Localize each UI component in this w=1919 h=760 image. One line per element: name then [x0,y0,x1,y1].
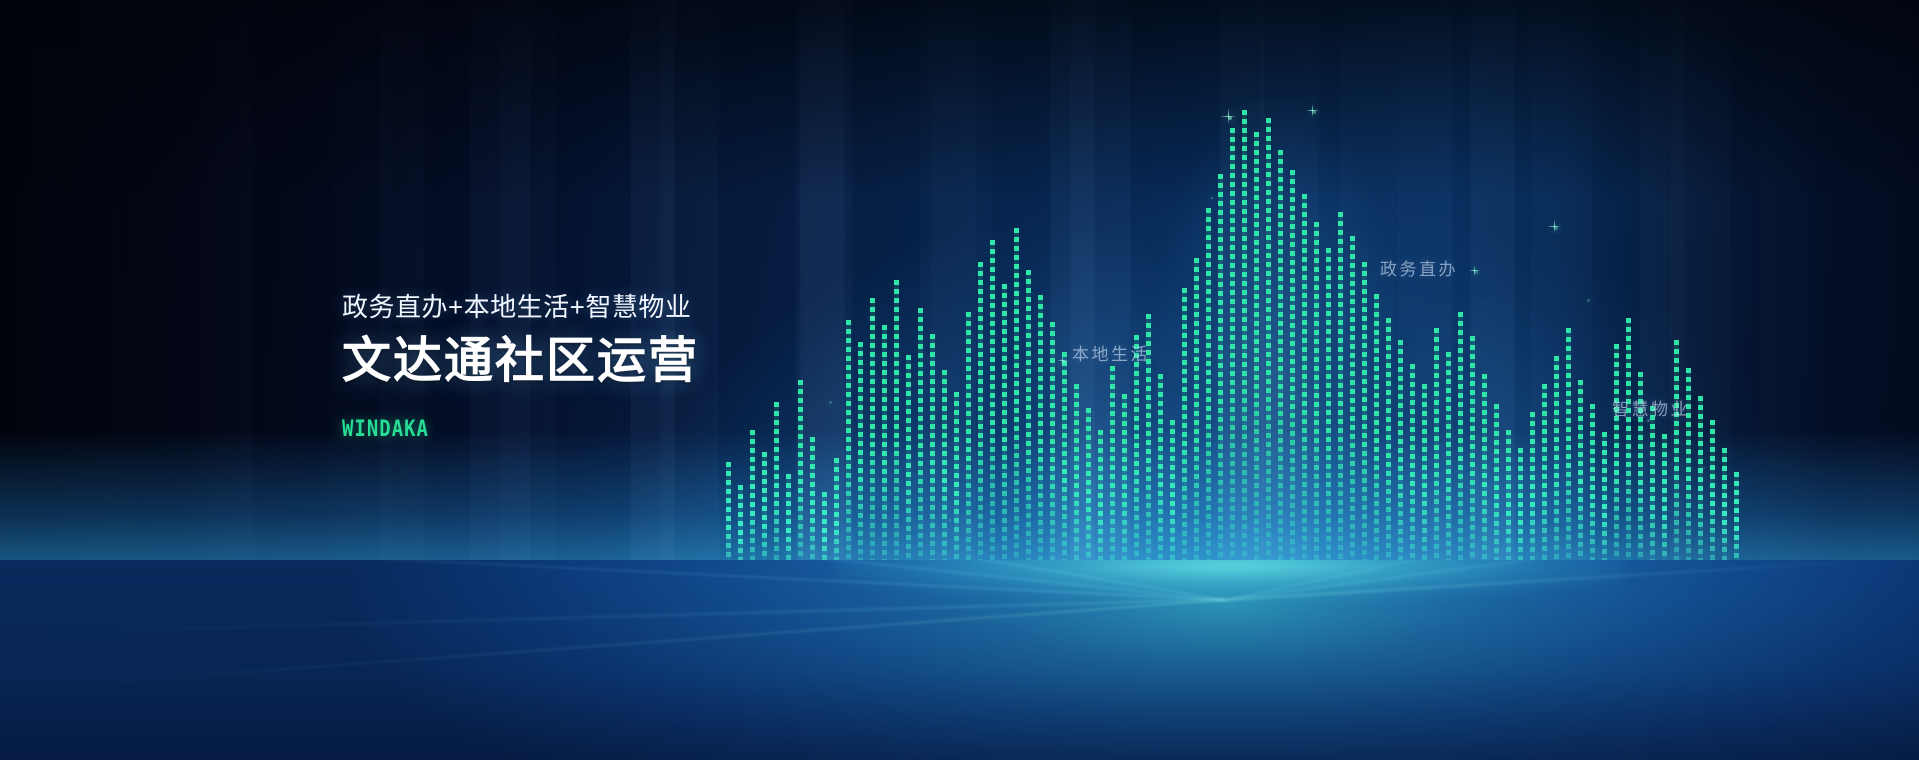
chart-bar [1302,194,1307,580]
chart-bar [1110,366,1115,580]
floating-label-3: 智慧物业 [1612,395,1690,420]
chart-bar [1602,432,1607,580]
chart-bar [858,342,863,580]
brand-wordmark: WINDAKA [342,419,649,441]
chart-bar [750,430,755,580]
horizon-glow [835,560,1625,598]
chart-bar [978,262,983,580]
chart-bar [1626,318,1631,580]
chart-bar [1194,258,1199,580]
chart-bar [1206,208,1211,580]
chart-bar [1398,340,1403,580]
chart-bar [1158,374,1163,580]
chart-bar [1350,236,1355,580]
chart-bar [1470,336,1475,580]
chart-bar [1290,170,1295,580]
chart-bar [1542,384,1547,580]
chart-bar [1554,356,1559,580]
chart-bar [1230,128,1235,580]
chart-bar [1314,222,1319,580]
page-title: 文达通社区运营 [342,337,699,386]
perspective-ray [1225,560,1919,602]
chart-bar [1494,404,1499,580]
chart-bar [1674,340,1679,580]
chart-bar [930,334,935,580]
chart-bar [1038,295,1043,580]
chart-bar [1002,284,1007,580]
chart-bar [906,355,911,580]
chart-bar [1386,318,1391,580]
chart-bar [1338,212,1343,580]
chart-bar [810,437,815,580]
chart-bar [1458,312,1463,580]
chart-bar [1182,288,1187,580]
floating-label-1: 本地生活 [1072,340,1150,365]
chart-bar [1422,384,1427,580]
floating-label-2: 政务直办 [1380,255,1458,280]
chart-bar [1134,335,1139,580]
chart-bar [1254,132,1259,580]
chart-bar [1590,404,1595,580]
chart-bar [1026,270,1031,580]
perspective-ray [0,560,1225,601]
chart-bar [1062,352,1067,580]
chart-bar [1170,420,1175,580]
chart-bar [990,240,995,580]
chart-bar [942,370,947,580]
chart-bar [1242,110,1247,580]
chart-bar [1662,434,1667,580]
chart-bar [1086,408,1091,580]
chart-bar [774,402,779,580]
chart-bar [1278,150,1283,580]
chart-bar [1362,262,1367,580]
chart-bar [1050,322,1055,580]
chart-bar [1710,420,1715,580]
chart-bar [954,392,959,580]
chart-bar [1530,412,1535,580]
chart-bar [1578,380,1583,580]
perspective-ground [0,560,1919,760]
perspective-ray [0,598,1225,637]
chart-bar [1410,364,1415,580]
tower-glow [1155,100,1395,580]
perspective-ray [0,599,1225,697]
chart-bar [918,308,923,580]
chart-bar [966,312,971,580]
chart-bar [1566,328,1571,580]
chart-bar [1098,430,1103,580]
perspective-ray [2,560,1225,601]
chart-bar [1434,328,1439,580]
chart-bar [846,320,851,580]
kicker-text: 政务直办+本地生活+智慧物业 [342,294,699,320]
chart-bar [1074,384,1079,580]
chart-bar [882,325,887,580]
chart-bar [1014,228,1019,580]
chart-bar [1698,396,1703,580]
chart-bar [1374,294,1379,580]
hero-banner: 政务直办+本地生活+智慧物业 文达通社区运营 WINDAKA 本地生活政务直办智… [0,0,1919,760]
hero-copy-block: 政务直办+本地生活+智慧物业 文达通社区运营 WINDAKA [342,294,699,441]
chart-bar [894,280,899,580]
perspective-ray [1225,560,1910,601]
chart-bar [1218,174,1223,580]
chart-bar [1266,118,1271,580]
chart-bar [1482,374,1487,580]
perspective-ray [1225,560,1919,601]
chart-bar [1446,352,1451,580]
perspective-ray [0,560,1225,601]
chart-bar [1506,430,1511,580]
chart-bar [1650,406,1655,580]
chart-bar [1122,394,1127,580]
chart-bar [798,380,803,580]
dot-matrix-skyline-chart [0,0,1919,600]
chart-bar [1326,248,1331,580]
chart-bar [870,298,875,580]
chart-bar [1614,344,1619,580]
